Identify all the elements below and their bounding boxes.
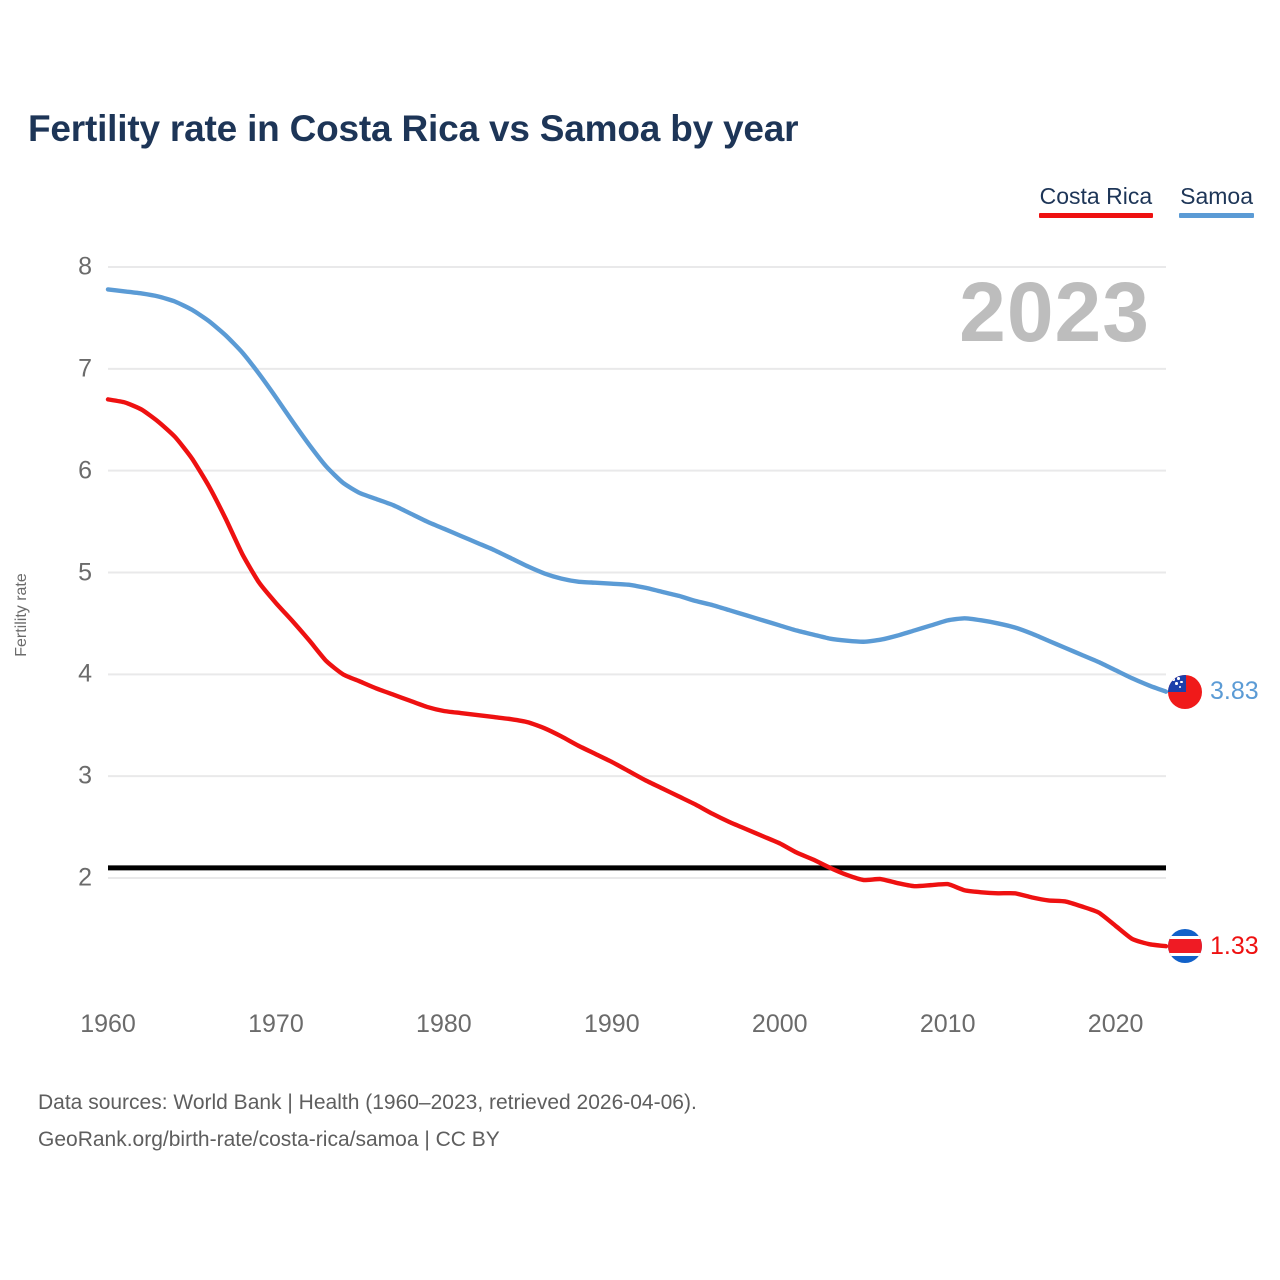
samoa-flag-canton [1168, 675, 1186, 693]
samoa-endpoint-value: 3.83 [1210, 677, 1259, 706]
x-axis-tick-1960: 1960 [80, 1010, 136, 1039]
chart-footer: Data sources: World Bank | Health (1960–… [38, 1085, 697, 1159]
footer-data-sources: Data sources: World Bank | Health (1960–… [38, 1085, 697, 1122]
series-lines [108, 289, 1166, 946]
chart-page: Fertility rate in Costa Rica vs Samoa by… [0, 0, 1280, 1280]
y-axis-label: Fertility rate [13, 573, 31, 657]
samoa-endpoint-marker[interactable]: 3.83 [1168, 675, 1259, 709]
y-axis-tick-5: 5 [52, 558, 92, 587]
y-axis-tick-6: 6 [52, 456, 92, 485]
x-axis-tick-2020: 2020 [1088, 1010, 1144, 1039]
series-line-samoa [108, 289, 1166, 691]
series-line-costa-rica [108, 399, 1166, 946]
x-axis-tick-1980: 1980 [416, 1010, 472, 1039]
y-axis-tick-7: 7 [52, 354, 92, 383]
costa-rica-endpoint-marker[interactable]: 1.33 [1168, 929, 1259, 963]
footer-attribution: GeoRank.org/birth-rate/costa-rica/samoa … [38, 1122, 697, 1159]
y-axis-tick-4: 4 [52, 660, 92, 689]
costa-rica-endpoint-value: 1.33 [1210, 932, 1259, 961]
samoa-flag-icon [1168, 675, 1202, 709]
x-axis-tick-1990: 1990 [584, 1010, 640, 1039]
x-axis-tick-1970: 1970 [248, 1010, 304, 1039]
gridlines [108, 267, 1166, 878]
y-axis-tick-2: 2 [52, 864, 92, 893]
x-axis-tick-2010: 2010 [920, 1010, 976, 1039]
x-axis-tick-2000: 2000 [752, 1010, 808, 1039]
y-axis-tick-8: 8 [52, 253, 92, 282]
y-axis-tick-3: 3 [52, 762, 92, 791]
costa-rica-flag-icon [1168, 929, 1202, 963]
